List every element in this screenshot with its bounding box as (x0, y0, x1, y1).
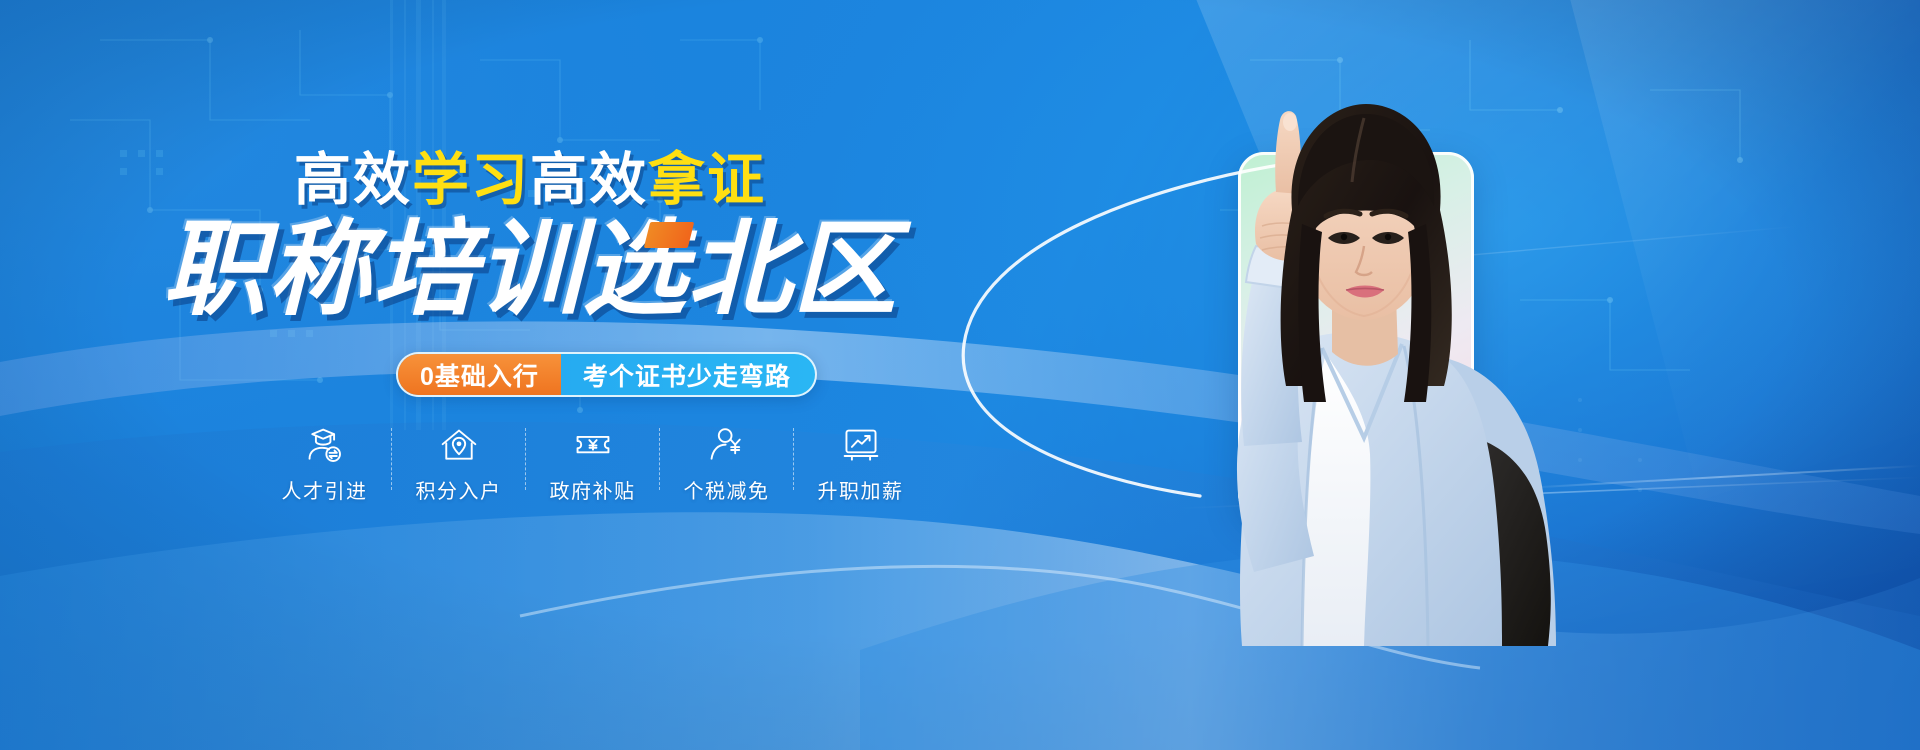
feature-divider (793, 428, 794, 490)
person-yuan-icon (707, 426, 747, 464)
headline-main: 职称培训选北区 (0, 218, 1060, 322)
feature-item-promotion-raise[interactable]: 升职加薪 (794, 426, 927, 504)
house-pin-icon (439, 426, 479, 464)
feature-item-tax-reduction[interactable]: 个税减免 (660, 426, 793, 504)
feature-label: 个税减免 (684, 475, 770, 504)
circuit-texture-left (60, 0, 820, 430)
orange-accent-swatch (644, 222, 694, 248)
headline-sub-part-1: 学习 (412, 148, 530, 212)
cta-right-label[interactable]: 考个证书少走弯路 (561, 354, 815, 395)
feature-item-government-subsidy[interactable]: 政府补贴 (526, 426, 659, 504)
woman-photo (1126, 86, 1596, 646)
cta-left-label[interactable]: 0基础入行 (398, 354, 561, 395)
feature-item-talent-introduction[interactable]: 人才引进 (258, 426, 391, 504)
feature-divider (659, 428, 660, 490)
feature-label: 人才引进 (282, 475, 368, 504)
feature-label: 政府补贴 (550, 475, 636, 504)
feature-list: 人才引进 积分入户 (258, 426, 927, 516)
cta-pill[interactable]: 0基础入行 考个证书少走弯路 (396, 352, 817, 397)
feature-label: 积分入户 (416, 475, 502, 504)
copy-block: 高效学习高效拿证 职称培训选北区 0基础入行 考个证书少走弯路 (0, 0, 1060, 750)
headline-subtitle: 高效学习高效拿证 (0, 152, 1060, 209)
circuit-texture-right (1220, 0, 1920, 620)
feature-divider (525, 428, 526, 490)
gradient-card-backdrop (1238, 152, 1474, 520)
wave-decoration (0, 320, 1920, 750)
curved-arc-line (900, 148, 1320, 508)
feature-label: 升职加薪 (818, 475, 904, 504)
headline-sub-part-2: 高效 (530, 148, 648, 212)
person-illustration (1088, 0, 1648, 750)
headline-sub-part-3: 拿证 (648, 148, 766, 212)
voucher-yuan-icon (573, 426, 613, 464)
background-gradient-layer (0, 0, 1920, 750)
feature-divider (391, 428, 392, 490)
promo-banner: 高效学习高效拿证 职称培训选北区 0基础入行 考个证书少走弯路 (0, 0, 1920, 750)
graduate-exchange-icon (305, 426, 345, 464)
chart-board-icon (841, 426, 881, 464)
feature-item-points-residency[interactable]: 积分入户 (392, 426, 525, 504)
headline-sub-part-0: 高效 (294, 148, 412, 212)
